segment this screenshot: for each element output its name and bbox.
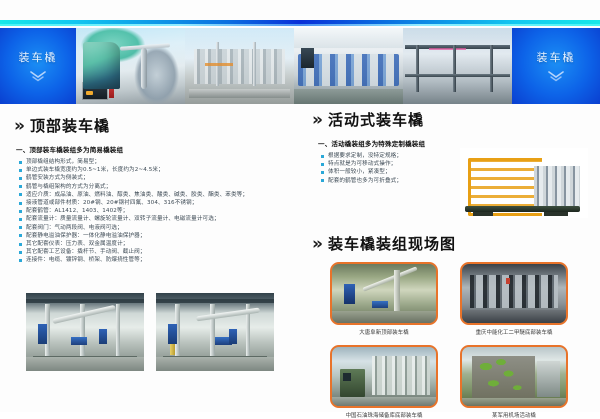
gallery-item[interactable]: 重庆中能化工二甲醚底部装车橇 bbox=[460, 262, 568, 336]
military-airport-mobile-skid[interactable] bbox=[460, 345, 568, 408]
gallery-item[interactable]: 某军用机场活动橇 bbox=[460, 345, 568, 419]
banner-photo-instrument-hall bbox=[294, 28, 403, 104]
list-item: 顶部橇组结构形式，简易型； bbox=[26, 158, 290, 166]
gallery-caption: 某军用机场活动橇 bbox=[460, 411, 568, 419]
list-item: 单边式装车橇宽度约为0.5~1米，长度约为2~4.5米； bbox=[26, 166, 290, 174]
section-marker-icon: » bbox=[14, 118, 23, 135]
list-item: 其它配套工艺设备：撬杆节、手动阀、截止阀； bbox=[26, 248, 290, 256]
section-marker-icon: » bbox=[312, 236, 321, 253]
petrochina-zhuhai-depot-bottom-loading-skid[interactable] bbox=[330, 345, 438, 408]
chevron-down-icon-right bbox=[548, 71, 564, 83]
gallery-caption: 中国石油珠海储备库底部装车橇 bbox=[330, 411, 438, 419]
list-item: 配套流量计：质量流量计、螺旋轮流量计、双转子流量计、电磁流量计可选； bbox=[26, 215, 290, 223]
bullet-list-top-loading: 顶部橇组结构形式，简易型； 单边式装车橇宽度约为0.5~1米，长度约为2~4.5… bbox=[14, 158, 290, 265]
section-title-text: 顶部装车橇 bbox=[30, 119, 110, 134]
section-title-text: 装车橇装组现场图 bbox=[328, 237, 456, 252]
list-item: 接液管道或部件材质：20#钢、20#钢衬四氟、304、316不锈钢； bbox=[26, 199, 290, 207]
gallery-caption: 重庆中能化工二甲醚底部装车橇 bbox=[460, 328, 568, 336]
section-title-top-loading: » 顶部装车橇 bbox=[14, 118, 290, 135]
loading-skid-workshop-photo-1 bbox=[26, 293, 144, 371]
gallery-item[interactable]: 大唐阜新顶部装车橇 bbox=[330, 262, 438, 336]
gallery-item[interactable]: 中国石油珠海储备库底部装车橇 bbox=[330, 345, 438, 419]
list-item: 鹤管与橇组架构的方式为分离式； bbox=[26, 183, 290, 191]
section-title-gallery: » 装车橇装组现场图 bbox=[312, 236, 592, 253]
gallery-row-1: 大唐阜新顶部装车橇 重庆中能化工二甲醚底部装车橇 bbox=[330, 262, 592, 336]
section-marker-icon: » bbox=[312, 112, 321, 129]
header-banner: 装车橇 装车橇 bbox=[0, 28, 600, 104]
banner-tab-left[interactable]: 装车橇 bbox=[0, 28, 76, 104]
datang-fuxin-top-loading-skid[interactable] bbox=[330, 262, 438, 325]
loading-skid-workshop-photo-2 bbox=[156, 293, 274, 371]
list-item: 配套阀门：气动两段阀、电液阀可选； bbox=[26, 224, 290, 232]
list-item: 配套静电溢油保护器：一体化静电溢油保护器； bbox=[26, 232, 290, 240]
gallery-caption: 大唐阜新顶部装车橇 bbox=[330, 328, 438, 336]
banner-photo-tanker-truck bbox=[76, 28, 185, 104]
mobile-loading-skid-photo bbox=[460, 148, 588, 218]
subhead-top-loading: 一、顶部装车橇装组多为简易橇装组 bbox=[16, 144, 290, 154]
banner-tab-left-label: 装车橇 bbox=[19, 49, 58, 65]
gallery-row-2: 中国石油珠海储备库底部装车橇 某军用机场活动橇 bbox=[330, 345, 592, 419]
section-title-mobile-loading: » 活动式装车橇 bbox=[312, 112, 592, 129]
brochure-page: 装车橇 装车橇 bbox=[0, 0, 600, 412]
section-title-text: 活动式装车橇 bbox=[328, 113, 424, 128]
chongqing-zhongneng-dme-bottom-loading-skid[interactable] bbox=[460, 262, 568, 325]
list-item: 连接件：电缆、镀锌钢、桥架、防爆挠性管等； bbox=[26, 256, 290, 264]
subhead-mobile-loading: 一、活动橇装组多为特殊定制橇装组 bbox=[318, 138, 592, 148]
left-column: » 顶部装车橇 一、顶部装车橇装组多为简易橇装组 顶部橇组结构形式，简易型； 单… bbox=[14, 118, 290, 265]
chevron-down-icon bbox=[30, 71, 46, 83]
banner-tab-right-label: 装车橇 bbox=[537, 49, 576, 65]
list-item: 鹤管安装方式为侧装式； bbox=[26, 174, 290, 182]
list-item: 适应介质：成品油、原油、燃料油、醇类、焦油类、酸类、碱类、胶类、酯类、苯类等； bbox=[26, 191, 290, 199]
banner-tab-right[interactable]: 装车橇 bbox=[512, 28, 600, 104]
left-photo-pair bbox=[26, 293, 274, 371]
top-gradient-rule-secondary bbox=[0, 24, 600, 26]
list-item: 其它配套仪表：压力表、双金属温度计； bbox=[26, 240, 290, 248]
gallery-section: » 装车橇装组现场图 大唐阜新顶部装车橇 重庆中能化工二甲醚底部装车橇 bbox=[330, 236, 592, 419]
banner-photo-outdoor-skid bbox=[185, 28, 294, 104]
banner-photo-loading-rack bbox=[403, 28, 512, 104]
list-item: 配套鹤管：AL1412、1403、1402等； bbox=[26, 207, 290, 215]
